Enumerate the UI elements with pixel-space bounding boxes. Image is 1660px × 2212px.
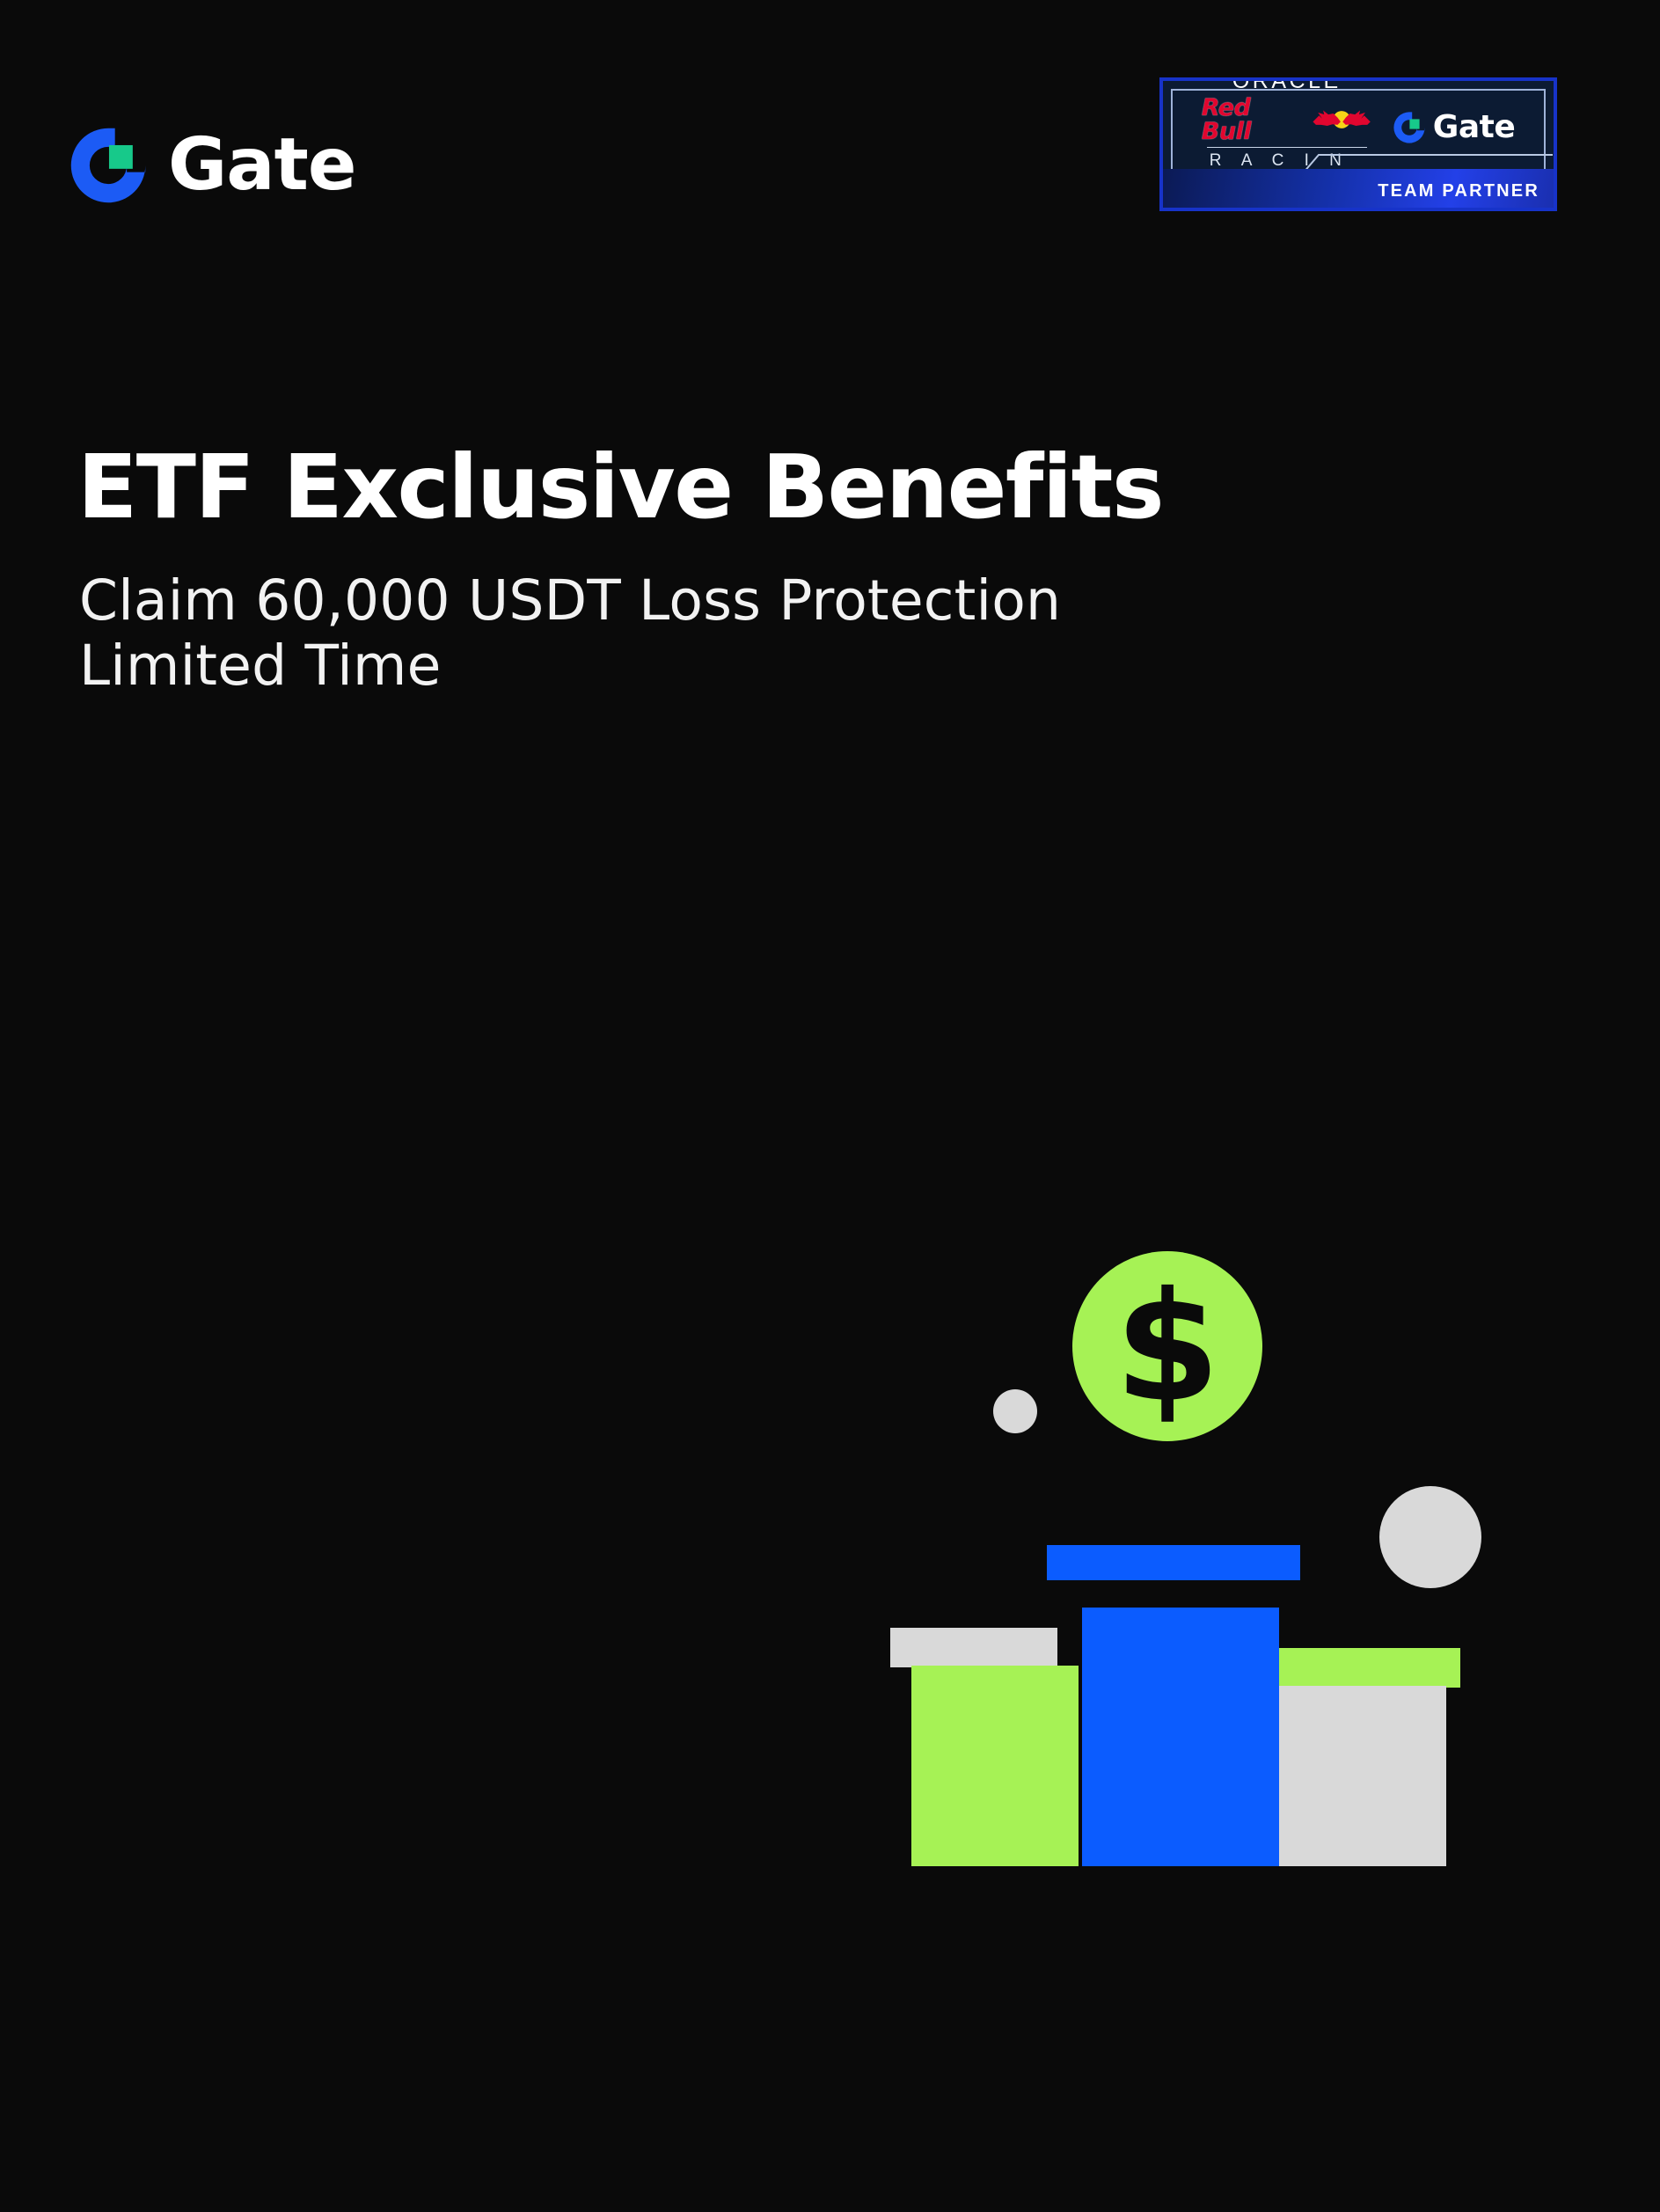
blue-floating-bar — [1047, 1545, 1300, 1580]
promo-banner-page: Gate ORACLE Red Bull R A C I N G — [0, 0, 1660, 2212]
red-bull-label: Red Bull — [1202, 96, 1305, 143]
subtitle-line-2: Limited Time — [79, 634, 1381, 699]
page-title: ETF Exclusive Benefits — [77, 441, 1397, 534]
oracle-label: ORACLE — [1232, 77, 1342, 92]
red-bull-row: Red Bull — [1202, 96, 1372, 143]
podium-block-left — [911, 1666, 1079, 1866]
podium-block-center — [1082, 1608, 1279, 1866]
page-subtitle: Claim 60,000 USDT Loss Protection Limite… — [79, 568, 1381, 699]
dollar-symbol: $ — [1115, 1259, 1220, 1436]
gate-wordmark: Gate — [168, 129, 355, 201]
gate-logo-icon — [66, 123, 150, 208]
subtitle-line-1: Claim 60,000 USDT Loss Protection — [79, 568, 1381, 634]
podium-block-right — [1279, 1686, 1446, 1866]
winners-podium-illustration: $ — [0, 0, 1660, 2212]
red-bull-charging-bulls-icon — [1311, 107, 1372, 132]
badge-gate-logo: Gate — [1392, 110, 1515, 145]
gate-logo-icon — [1392, 110, 1427, 145]
badge-divider — [1207, 147, 1367, 148]
dollar-coin-icon — [1072, 1251, 1262, 1441]
gate-brand-logo[interactable]: Gate — [66, 123, 355, 208]
team-partner-label: TEAM PARTNER — [1378, 182, 1539, 200]
badge-gate-wordmark: Gate — [1433, 112, 1515, 143]
podium-cap-right — [1279, 1648, 1460, 1688]
grey-circle-right — [1379, 1486, 1481, 1588]
podium-cap-left — [890, 1628, 1057, 1667]
badge-content: ORACLE Red Bull R A C I N G — [1163, 81, 1554, 174]
small-grey-circle-left — [993, 1389, 1037, 1433]
oracle-red-bull-racing-partner-badge[interactable]: ORACLE Red Bull R A C I N G — [1159, 77, 1557, 211]
